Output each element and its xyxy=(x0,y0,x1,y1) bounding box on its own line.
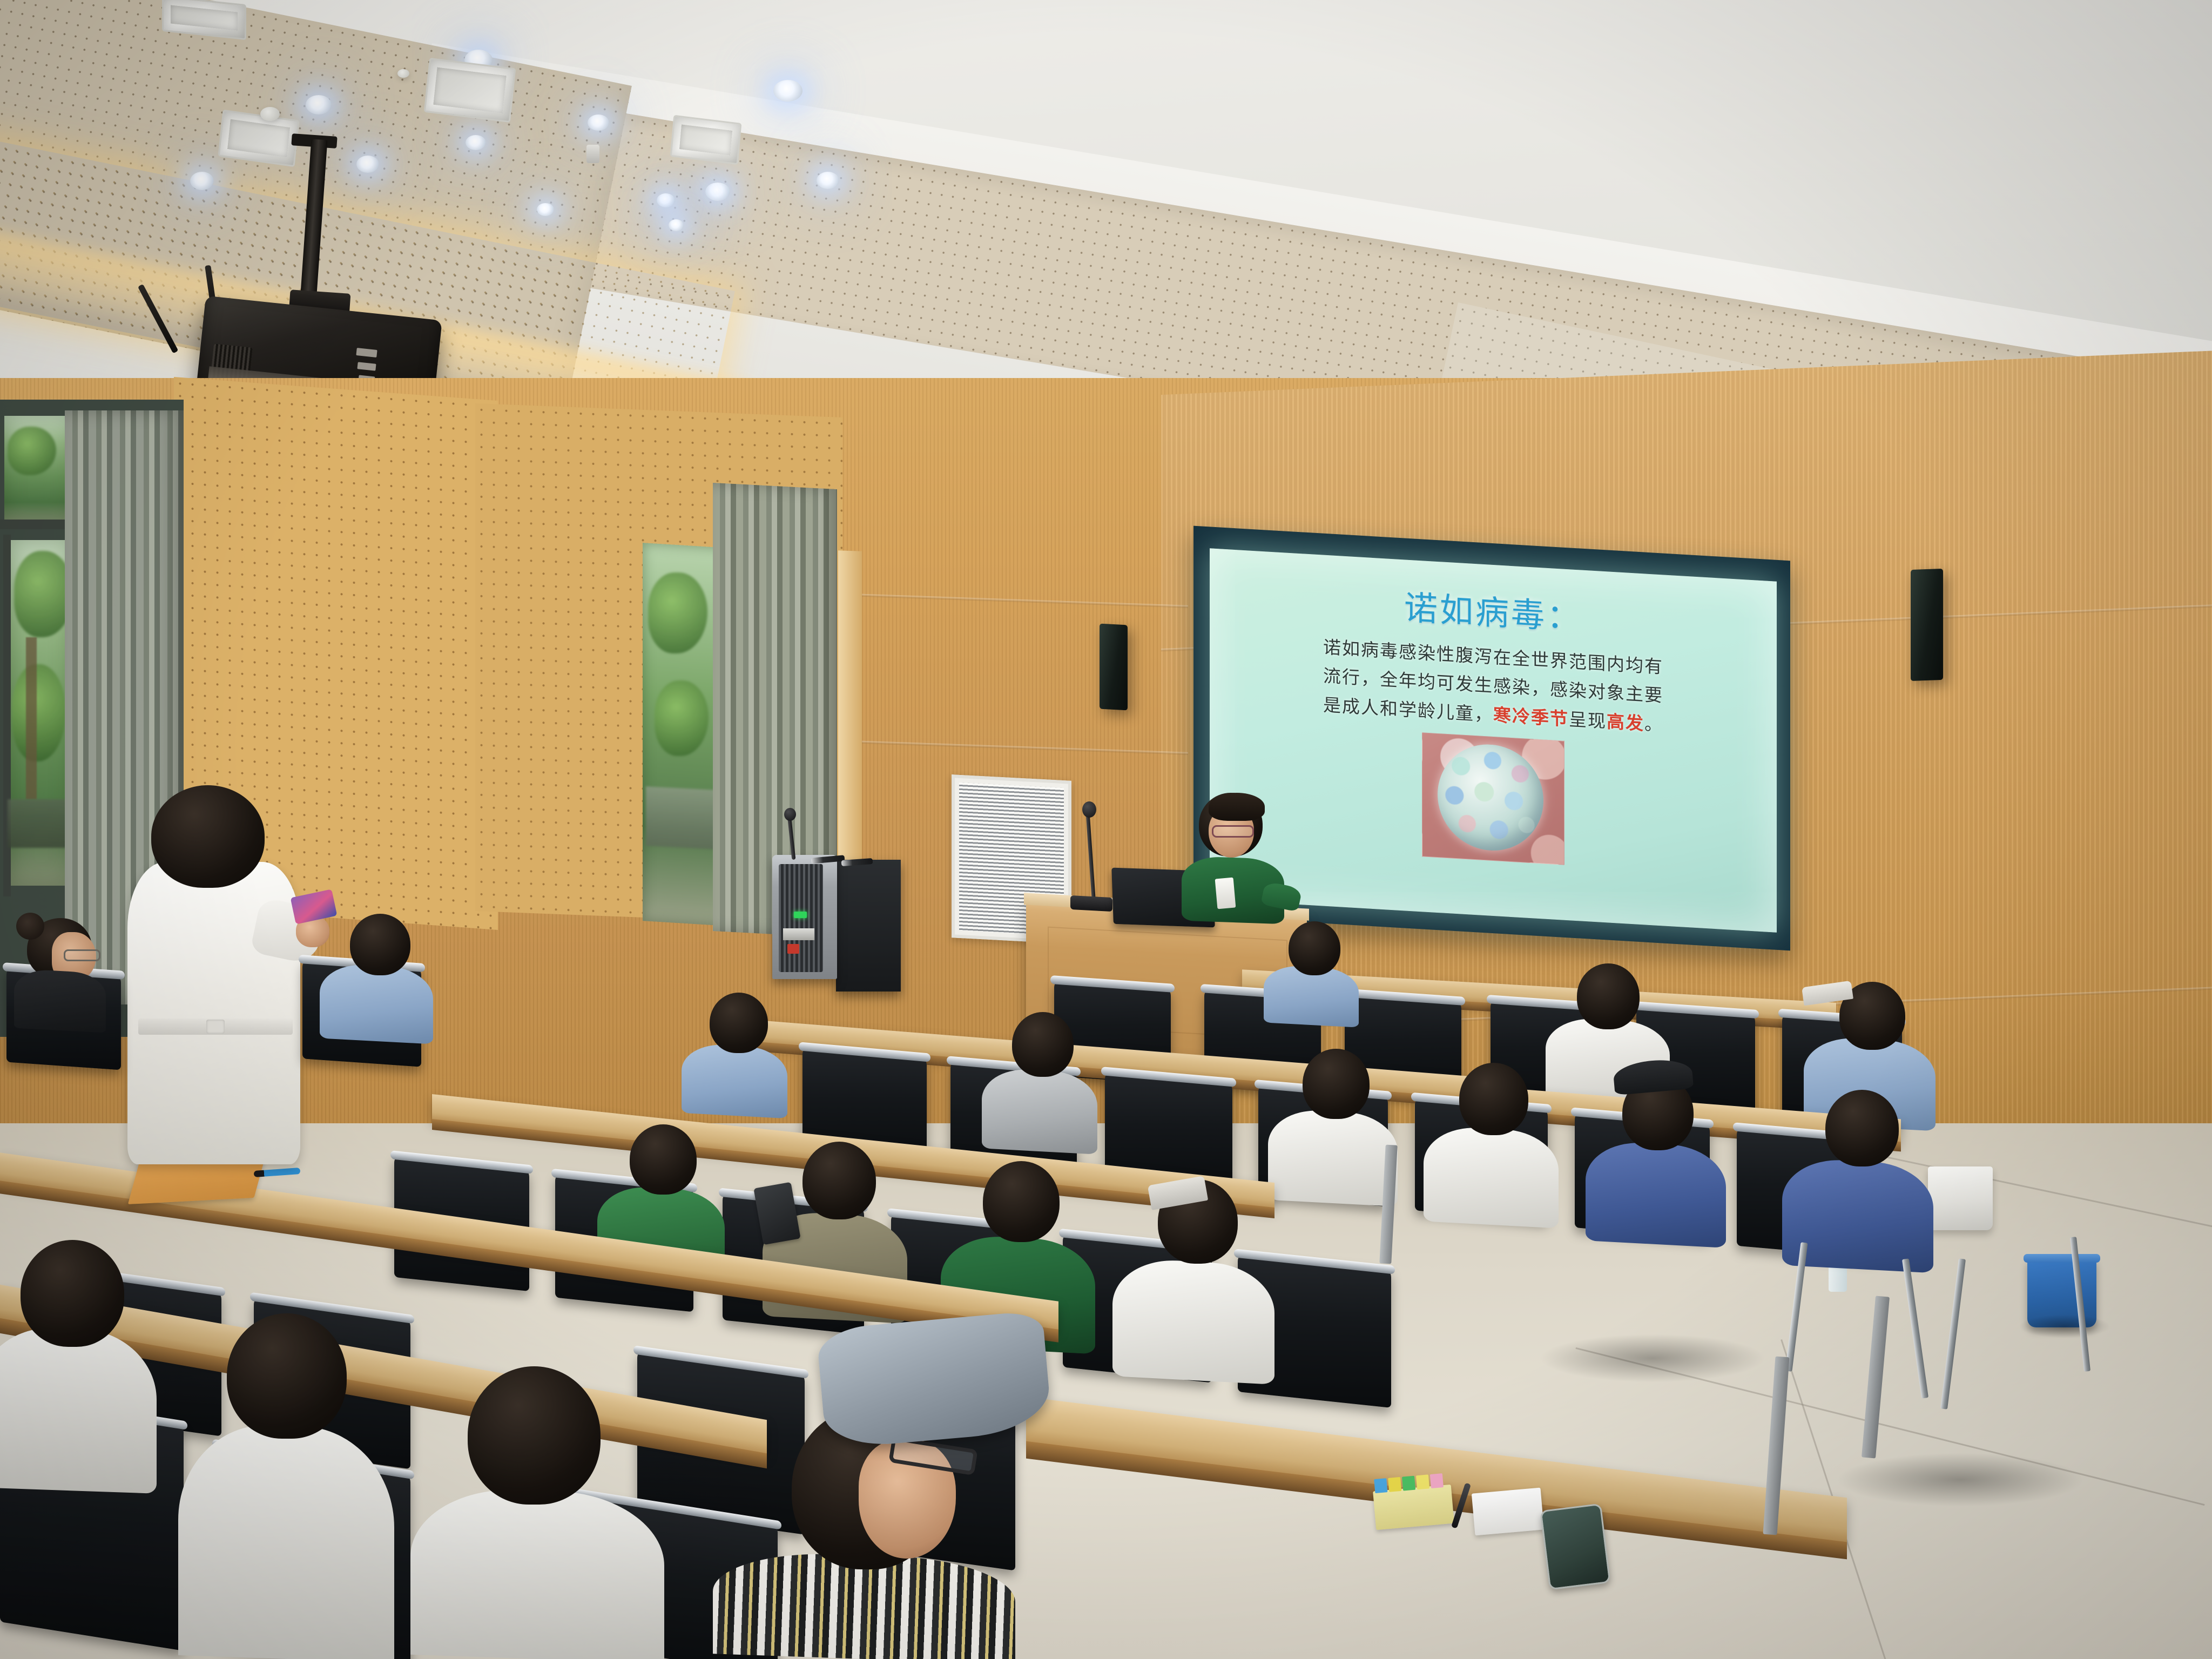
av-rack-slot xyxy=(783,928,814,940)
attendee-body xyxy=(14,969,106,1033)
attendee-head xyxy=(1459,1063,1528,1135)
attendee-body xyxy=(682,1043,787,1118)
attendee-head xyxy=(1303,1049,1370,1119)
ceiling-downlight xyxy=(190,172,214,190)
ceiling-downlight xyxy=(705,183,730,201)
ceiling-downlight xyxy=(669,219,684,231)
slide-title: 诺如病毒： xyxy=(1404,580,1582,639)
sticky-tab-green xyxy=(1402,1476,1415,1491)
white-waste-bin xyxy=(1928,1166,1993,1230)
attendee-head xyxy=(1012,1012,1074,1077)
attendee-body xyxy=(1268,1108,1398,1207)
attendee-head-foreground xyxy=(227,1313,347,1439)
slide-highlight-cold-season: 寒冷季节 xyxy=(1493,704,1569,730)
floor-shadow xyxy=(1539,1334,1766,1382)
smoke-detector-icon xyxy=(260,107,280,121)
attendee-body-foreground xyxy=(178,1422,394,1659)
ceiling-downlight xyxy=(306,95,332,114)
sticky-tab-blue xyxy=(1374,1478,1387,1493)
microphone-base xyxy=(1070,895,1112,912)
ceiling-downlight xyxy=(466,135,486,150)
white-notepad[interactable] xyxy=(1472,1488,1544,1536)
ceiling-downlight xyxy=(588,114,609,131)
attendee-body-foreground xyxy=(0,1325,157,1494)
slide-highlight-high-incidence: 高发 xyxy=(1607,711,1644,734)
sticky-tab-pink xyxy=(1430,1473,1444,1488)
attendee-head xyxy=(1825,1090,1899,1166)
sticky-tab-lightyellow xyxy=(1416,1474,1429,1489)
lab-coat-belt-buckle xyxy=(206,1020,225,1034)
ceiling-downlight xyxy=(356,156,379,173)
presenter-hair-front xyxy=(1209,793,1265,821)
ceiling-downlight xyxy=(657,193,675,207)
av-rack-grill xyxy=(779,864,823,972)
norovirus-illustration xyxy=(1422,733,1564,865)
attendee-body xyxy=(1424,1125,1559,1228)
slide-line3-prefix: 是成人和学龄儿童， xyxy=(1323,694,1493,725)
attendee-eyeglasses xyxy=(64,949,100,961)
av-rack-red-button[interactable] xyxy=(787,944,799,954)
ceiling-spot-fixture xyxy=(586,145,599,163)
lecture-room-photo: 诺如病毒： 诺如病毒感染性腹泻在全世界范围内均有 流行，全年均可发生感染，感染对… xyxy=(0,0,2212,1659)
tree-trunk xyxy=(26,637,37,799)
slide-line3-middle: 呈现 xyxy=(1569,709,1607,732)
av-rack-mic-head xyxy=(784,808,796,821)
ceiling-air-vent xyxy=(670,115,742,165)
attendee-head xyxy=(630,1124,697,1195)
ceiling-downlight xyxy=(817,172,839,189)
ceiling-sensor-icon xyxy=(397,69,409,78)
slide-body-text: 诺如病毒感染性腹泻在全世界范围内均有 流行，全年均可发生感染，感染对象主要 是成… xyxy=(1315,632,1671,740)
attendee-body xyxy=(1112,1257,1274,1385)
attendee-head xyxy=(802,1142,876,1219)
slide-line3-suffix: 。 xyxy=(1644,713,1663,735)
attendee-head-foreground xyxy=(468,1366,601,1505)
presenter-eyeglasses xyxy=(1212,825,1254,838)
slide-content: 诺如病毒： 诺如病毒感染性腹泻在全世界范围内均有 流行，全年均可发生感染，感染对… xyxy=(1210,548,1777,932)
gooseneck-mic-head xyxy=(1082,801,1096,818)
ceiling-air-vent xyxy=(424,58,516,123)
av-rack-cabinet xyxy=(836,860,901,992)
projection-screen: 诺如病毒： 诺如病毒感染性腹泻在全世界范围内均有 流行，全年均可发生感染，感染对… xyxy=(1210,548,1777,932)
attendee-head xyxy=(983,1161,1060,1242)
attendee-head xyxy=(350,914,410,975)
dark-green-smartphone[interactable] xyxy=(1540,1503,1610,1590)
sticky-note-pad[interactable] xyxy=(1373,1485,1454,1530)
attendee-hair-bun xyxy=(16,913,44,940)
ceiling-downlight xyxy=(773,80,802,102)
staff-head xyxy=(151,785,265,888)
floor-shadow xyxy=(1836,1453,2085,1507)
bin-shadow xyxy=(2019,1314,2110,1338)
attendee-body-foreground xyxy=(410,1486,664,1659)
attendee-body xyxy=(1586,1140,1726,1248)
attendee-body xyxy=(982,1067,1097,1154)
wall-speaker-left xyxy=(1100,624,1128,711)
av-rack-status-led xyxy=(794,912,807,918)
sticky-tab-yellow xyxy=(1388,1477,1401,1492)
attendee-head xyxy=(1577,963,1640,1029)
ceiling-downlight xyxy=(537,203,554,216)
virus-particle-icon xyxy=(1438,741,1543,853)
presenter-note-card xyxy=(1215,878,1236,909)
attendee-head xyxy=(1289,921,1340,975)
attendee-head-foreground xyxy=(21,1240,124,1347)
wall-speaker-right xyxy=(1911,569,1943,681)
attendee-head xyxy=(710,993,768,1053)
